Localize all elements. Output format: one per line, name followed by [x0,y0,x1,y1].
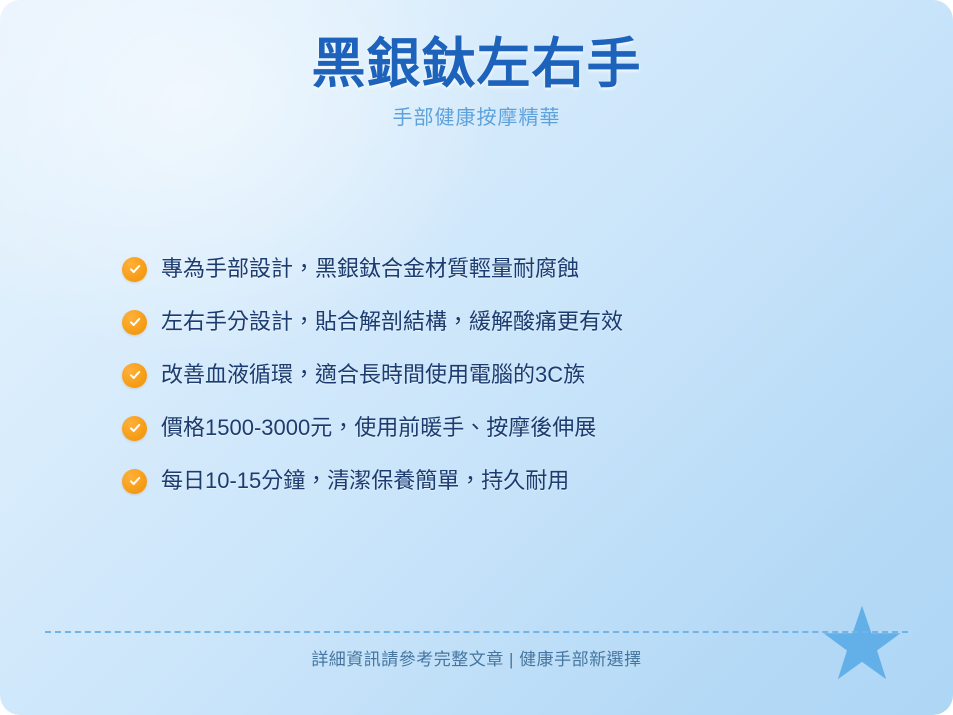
list-item: 左右手分設計，貼合解剖結構，緩解酸痛更有效 [122,305,623,339]
feature-list: 專為手部設計，黑銀鈦合金材質輕量耐腐蝕 左右手分設計，貼合解剖結構，緩解酸痛更有… [122,252,623,498]
page-title: 黑銀鈦左右手 [0,0,953,95]
star-icon [822,604,902,684]
list-item: 專為手部設計，黑銀鈦合金材質輕量耐腐蝕 [122,252,623,286]
check-icon [122,416,147,441]
list-item: 改善血液循環，適合長時間使用電腦的3C族 [122,358,623,392]
check-icon [122,363,147,388]
list-item: 價格1500-3000元，使用前暖手、按摩後伸展 [122,411,623,445]
footer-note: 詳細資訊請參考完整文章 | 健康手部新選擇 [0,648,953,672]
list-item-label: 左右手分設計，貼合解剖結構，緩解酸痛更有效 [161,307,623,337]
list-item: 每日10-15分鐘，清潔保養簡單，持久耐用 [122,464,623,498]
footer-divider [45,631,908,633]
check-icon [122,310,147,335]
list-item-label: 改善血液循環，適合長時間使用電腦的3C族 [161,360,585,390]
slide-header: 黑銀鈦左右手 手部健康按摩精華 [0,0,953,131]
check-icon [122,257,147,282]
list-item-label: 專為手部設計，黑銀鈦合金材質輕量耐腐蝕 [161,254,579,284]
list-item-label: 每日10-15分鐘，清潔保養簡單，持久耐用 [161,466,569,496]
page-subtitle: 手部健康按摩精華 [0,95,953,131]
list-item-label: 價格1500-3000元，使用前暖手、按摩後伸展 [161,413,596,443]
check-icon [122,469,147,494]
slide-card: 黑銀鈦左右手 手部健康按摩精華 專為手部設計，黑銀鈦合金材質輕量耐腐蝕 左右手分… [0,0,953,715]
